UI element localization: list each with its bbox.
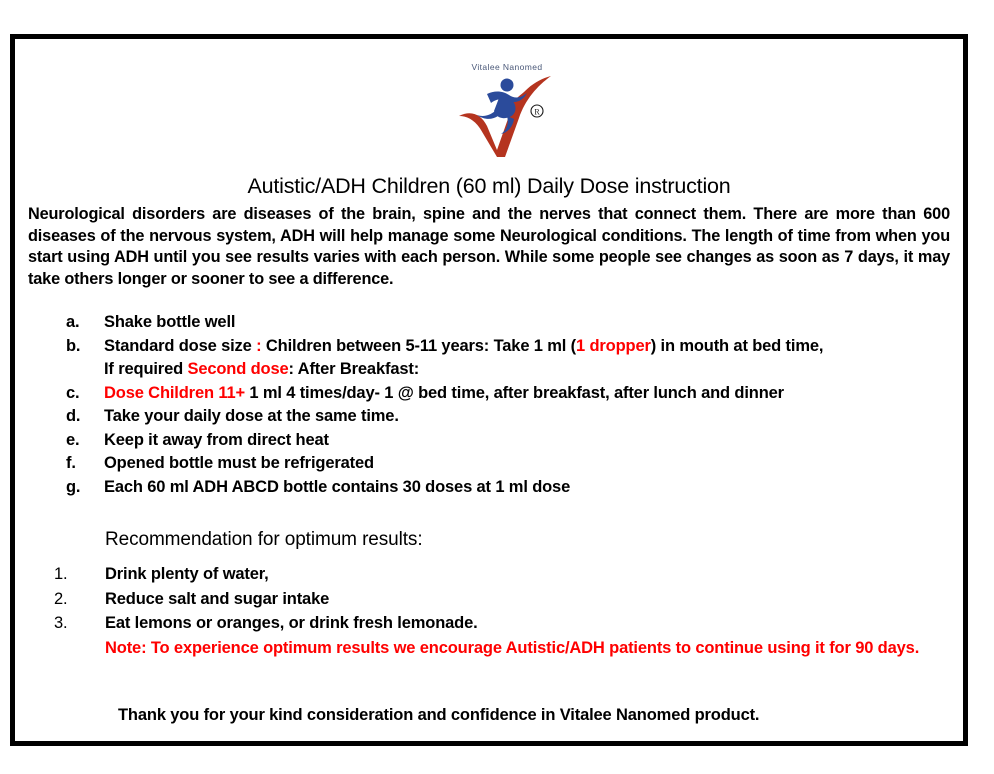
text-segment: Children between 5-11 years: Take 1 ml ( xyxy=(261,337,576,355)
list-item-body: Eat lemons or oranges, or drink fresh le… xyxy=(105,611,954,636)
list-item-marker: 3. xyxy=(54,611,105,636)
list-item-line: Take your daily dose at the same time. xyxy=(104,405,956,429)
list-item-line: Dose Children 11+ 1 ml 4 times/day- 1 @ … xyxy=(104,382,956,406)
instruction-list: a. Shake bottle well b. Standard dose si… xyxy=(66,311,956,499)
list-item-body: Standard dose size : Children between 5-… xyxy=(104,335,956,382)
list-item: 3. Eat lemons or oranges, or drink fresh… xyxy=(54,611,954,636)
list-item-line: If required Second dose: After Breakfast… xyxy=(104,358,956,382)
vitalee-nanomed-logo: Vitalee Nanomed R xyxy=(451,54,563,162)
list-item-body: Shake bottle well xyxy=(104,311,956,335)
list-item-line: Shake bottle well xyxy=(104,311,956,335)
logo-wordmark-text: Vitalee Nanomed xyxy=(471,62,542,72)
list-item: e. Keep it away from direct heat xyxy=(66,429,956,453)
list-item-body: Take your daily dose at the same time. xyxy=(104,405,956,429)
list-item-line: Standard dose size : Children between 5-… xyxy=(104,335,956,359)
list-item: 1. Drink plenty of water, xyxy=(54,562,954,587)
logo-graphic: Vitalee Nanomed R xyxy=(451,54,563,162)
intro-paragraph: Neurological disorders are diseases of t… xyxy=(28,204,950,290)
list-item-marker: e. xyxy=(66,429,104,453)
list-item: a. Shake bottle well xyxy=(66,311,956,335)
list-item-body: Keep it away from direct heat xyxy=(104,429,956,453)
list-item-marker: a. xyxy=(66,311,104,335)
text-segment: ) in mouth at bed time, xyxy=(651,337,824,355)
logo-runner-head xyxy=(501,79,514,92)
recommendation-list: 1. Drink plenty of water, 2. Reduce salt… xyxy=(54,562,954,636)
highlighted-text: Dose Children 11+ xyxy=(104,384,245,402)
list-item-body: Opened bottle must be refrigerated xyxy=(104,452,956,476)
list-item-marker: d. xyxy=(66,405,104,429)
list-item: d. Take your daily dose at the same time… xyxy=(66,405,956,429)
list-item-marker: f. xyxy=(66,452,104,476)
list-item: 2. Reduce salt and sugar intake xyxy=(54,587,954,612)
closing-thanks: Thank you for your kind consideration an… xyxy=(118,706,948,725)
list-item: g. Each 60 ml ADH ABCD bottle contains 3… xyxy=(66,476,956,500)
text-segment: Shake bottle well xyxy=(104,313,235,331)
registered-trademark-letter: R xyxy=(534,108,540,117)
text-segment: Opened bottle must be refrigerated xyxy=(104,454,374,472)
list-item-marker: 2. xyxy=(54,587,105,612)
document-content: Vitalee Nanomed R Autistic/ADH Children … xyxy=(10,34,968,746)
text-segment: Keep it away from direct heat xyxy=(104,431,329,449)
list-item-line: Each 60 ml ADH ABCD bottle contains 30 d… xyxy=(104,476,956,500)
list-item: c. Dose Children 11+ 1 ml 4 times/day- 1… xyxy=(66,382,956,406)
text-segment: Take your daily dose at the same time. xyxy=(104,407,399,425)
list-item-body: Drink plenty of water, xyxy=(105,562,954,587)
list-item-body: Each 60 ml ADH ABCD bottle contains 30 d… xyxy=(104,476,956,500)
text-segment: : After Breakfast: xyxy=(289,360,420,378)
list-item-marker: c. xyxy=(66,382,104,406)
list-item: f. Opened bottle must be refrigerated xyxy=(66,452,956,476)
list-item-marker: b. xyxy=(66,335,104,359)
highlighted-text: Second dose xyxy=(187,360,288,378)
list-item-body: Reduce salt and sugar intake xyxy=(105,587,954,612)
list-item-line: Opened bottle must be refrigerated xyxy=(104,452,956,476)
text-segment: If required xyxy=(104,360,187,378)
note-text: Note: To experience optimum results we e… xyxy=(105,637,955,660)
list-item-line: Keep it away from direct heat xyxy=(104,429,956,453)
text-segment: Standard dose size xyxy=(104,337,256,355)
page-title: Autistic/ADH Children (60 ml) Daily Dose… xyxy=(10,174,968,199)
text-segment: Each 60 ml ADH ABCD bottle contains 30 d… xyxy=(104,478,570,496)
highlighted-text: 1 dropper xyxy=(576,337,651,355)
document-page: Vitalee Nanomed R Autistic/ADH Children … xyxy=(0,0,994,774)
list-item-marker: 1. xyxy=(54,562,105,587)
recommendation-heading: Recommendation for optimum results: xyxy=(105,529,423,551)
text-segment: 1 ml 4 times/day- 1 @ bed time, after br… xyxy=(245,384,784,402)
list-item-marker: g. xyxy=(66,476,104,500)
list-item-body: Dose Children 11+ 1 ml 4 times/day- 1 @ … xyxy=(104,382,956,406)
list-item: b. Standard dose size : Children between… xyxy=(66,335,956,382)
